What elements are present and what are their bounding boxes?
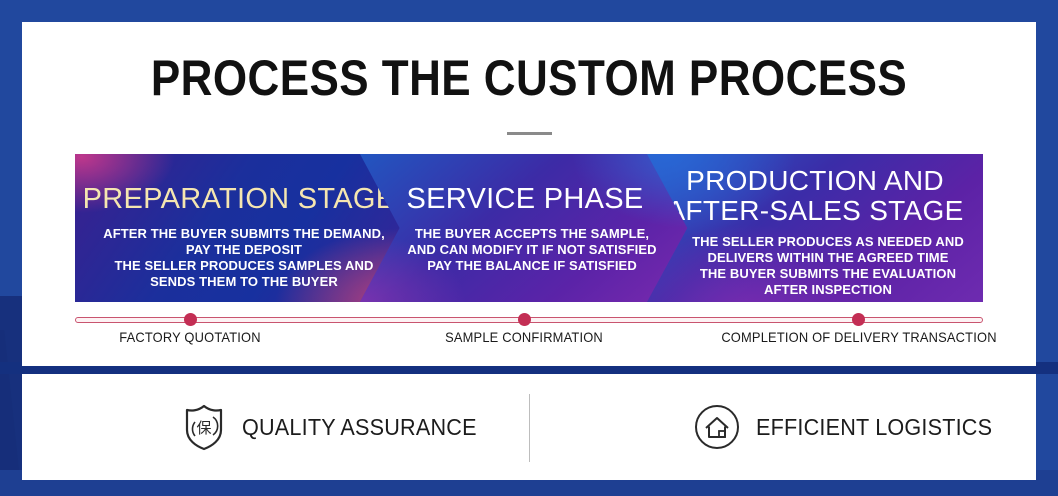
page-title: PROCESS THE CUSTOM PROCESS (83, 48, 975, 108)
timeline-dot-completion-of-delivery[interactable] (852, 313, 865, 326)
stage-heading: PREPARATION STAGE (75, 154, 403, 215)
stage-heading-line: PRODUCTION AND (647, 166, 983, 196)
stage-description: THE SELLER PRODUCES AS NEEDED AND DELIVE… (647, 226, 983, 298)
stage-description-line: THE BUYER ACCEPTS THE SAMPLE, (394, 226, 670, 242)
timeline-label-factory-quotation: FACTORY QUOTATION (120, 329, 261, 345)
slide-canvas: PROCESS THE CUSTOM PROCESS PREPARATION S… (0, 0, 1058, 496)
stage-description-line: SENDS THEM TO THE BUYER (99, 274, 389, 290)
stage-description-line: PAY THE BALANCE IF SATISFIED (394, 258, 670, 274)
stage-heading: PRODUCTION AND AFTER-SALES STAGE (647, 154, 983, 226)
timeline-labels: FACTORY QUOTATION SAMPLE CONFIRMATION CO… (22, 329, 1036, 349)
feature-efficient-logistics[interactable]: EFFICIENT LOGISTICS (694, 402, 1007, 452)
stage-heading: SERVICE PHASE (360, 154, 690, 215)
stage-description-line: THE SELLER PRODUCES SAMPLES AND (99, 258, 389, 274)
stage-description-line: AFTER INSPECTION (687, 282, 969, 298)
feature-label: EFFICIENT LOGISTICS (756, 414, 992, 441)
timeline-label-sample-confirmation: SAMPLE CONFIRMATION (446, 329, 604, 345)
stage-banner-preparation[interactable]: PREPARATION STAGE AFTER THE BUYER SUBMIT… (75, 154, 403, 302)
stage-description-line: PAY THE DEPOSIT (99, 242, 389, 258)
stage-description-line: AFTER THE BUYER SUBMITS THE DEMAND, (99, 226, 389, 242)
title-underline-rule (507, 132, 552, 135)
process-timeline (75, 316, 983, 326)
shield-bao-icon: 保 (182, 403, 226, 451)
timeline-dot-sample-confirmation[interactable] (518, 313, 531, 326)
timeline-label-completion-of-delivery: COMPLETION OF DELIVERY TRANSACTION (721, 329, 996, 345)
stage-description-line: DELIVERS WITHIN THE AGREED TIME (687, 250, 969, 266)
stage-description-line: AND CAN MODIFY IT IF NOT SATISFIED (394, 242, 670, 258)
stage-description: AFTER THE BUYER SUBMITS THE DEMAND, PAY … (75, 215, 403, 290)
process-stage-banners: PREPARATION STAGE AFTER THE BUYER SUBMIT… (75, 154, 983, 302)
feature-quality-assurance[interactable]: 保 QUALITY ASSURANCE (182, 402, 492, 452)
stage-description: THE BUYER ACCEPTS THE SAMPLE, AND CAN MO… (360, 215, 690, 274)
svg-text:保: 保 (196, 419, 211, 437)
stage-description-line: THE BUYER SUBMITS THE EVALUATION (687, 266, 969, 282)
stage-heading-line: AFTER-SALES STAGE (647, 196, 983, 226)
features-divider (529, 394, 530, 462)
stage-description-line: THE SELLER PRODUCES AS NEEDED AND (687, 234, 969, 250)
feature-label: QUALITY ASSURANCE (242, 414, 477, 441)
stage-banner-service[interactable]: SERVICE PHASE THE BUYER ACCEPTS THE SAMP… (360, 154, 690, 302)
timeline-dot-factory-quotation[interactable] (184, 313, 197, 326)
stage-banner-production[interactable]: PRODUCTION AND AFTER-SALES STAGE THE SEL… (647, 154, 983, 302)
warehouse-house-icon (694, 404, 740, 450)
